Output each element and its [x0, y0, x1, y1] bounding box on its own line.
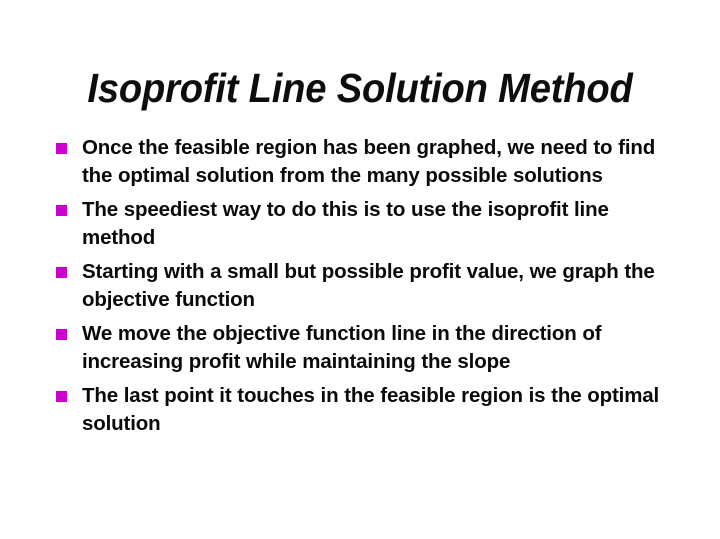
square-bullet-icon: [56, 143, 67, 154]
square-bullet-icon: [56, 329, 67, 340]
square-bullet-icon: [56, 391, 67, 402]
square-bullet-icon: [56, 267, 67, 278]
bullet-item: Starting with a small but possible profi…: [52, 258, 676, 313]
bullet-item: The speediest way to do this is to use t…: [52, 196, 676, 251]
presentation-slide: Isoprofit Line Solution Method Once the …: [0, 0, 720, 539]
bullet-item: We move the objective function line in t…: [52, 320, 676, 375]
bullet-item: The last point it touches in the feasibl…: [52, 382, 676, 437]
bullet-item-text: The last point it touches in the feasibl…: [82, 382, 676, 437]
bullet-item-text: We move the objective function line in t…: [82, 320, 676, 375]
slide-title: Isoprofit Line Solution Method: [25, 65, 695, 112]
bullet-item: Once the feasible region has been graphe…: [52, 134, 676, 189]
bullet-item-text: Once the feasible region has been graphe…: [82, 134, 676, 189]
bullet-item-text: Starting with a small but possible profi…: [82, 258, 676, 313]
bullet-item-text: The speediest way to do this is to use t…: [82, 196, 676, 251]
bullet-list: Once the feasible region has been graphe…: [52, 134, 676, 437]
square-bullet-icon: [56, 205, 67, 216]
